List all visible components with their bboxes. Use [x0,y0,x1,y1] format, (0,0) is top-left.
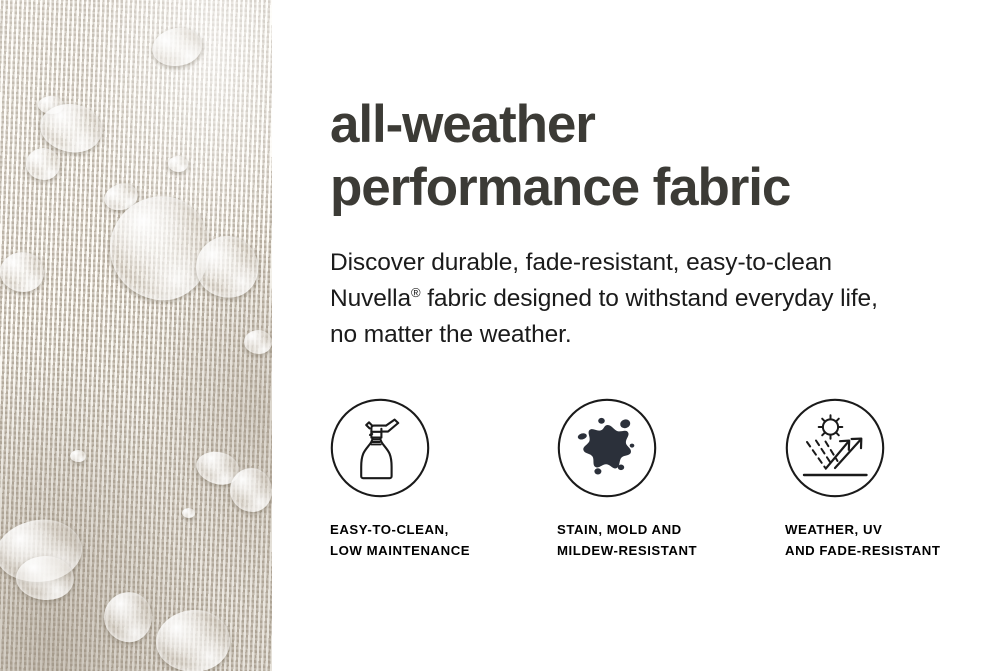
registered-trademark-icon: ® [411,285,420,300]
stain-splat-icon [557,398,657,498]
spray-bottle-icon [330,398,430,498]
water-droplet [244,330,272,354]
water-droplet [168,156,188,172]
sun-uv-reflect-icon [785,398,885,498]
brand-name: Nuvella [330,285,411,312]
feature-list: EASY-TO-CLEAN, LOW MAINTENANCE STAIN, MO… [330,398,1005,568]
fabric-photo [0,0,272,671]
feature-item-weather-uv-resistant: WEATHER, UV AND FADE-RESISTANT [785,398,1005,561]
content-panel: all-weather performance fabric Discover … [272,0,1005,671]
subcopy-line-3: no matter the weather. [330,321,572,348]
feature-label: EASY-TO-CLEAN, LOW MAINTENANCE [330,519,560,561]
water-droplet [0,252,44,292]
feature-item-stain-resistant: STAIN, MOLD AND MILDEW-RESISTANT [557,398,787,561]
feature-label: WEATHER, UV AND FADE-RESISTANT [785,519,1005,561]
page-title: all-weather performance fabric [330,93,790,219]
all-weather-fabric-banner: all-weather performance fabric Discover … [0,0,1005,671]
feature-label: STAIN, MOLD AND MILDEW-RESISTANT [557,519,787,561]
water-droplet [182,508,195,518]
water-droplet [16,556,74,600]
subcopy: Discover durable, fade-resistant, easy-t… [330,245,878,353]
subcopy-line-1: Discover durable, fade-resistant, easy-t… [330,249,832,276]
feature-item-easy-to-clean: EASY-TO-CLEAN, LOW MAINTENANCE [330,398,560,561]
water-droplet [70,450,86,462]
subcopy-line-2: fabric designed to withstand everyday li… [421,285,878,312]
water-droplet [230,468,272,512]
water-droplet [26,148,60,180]
